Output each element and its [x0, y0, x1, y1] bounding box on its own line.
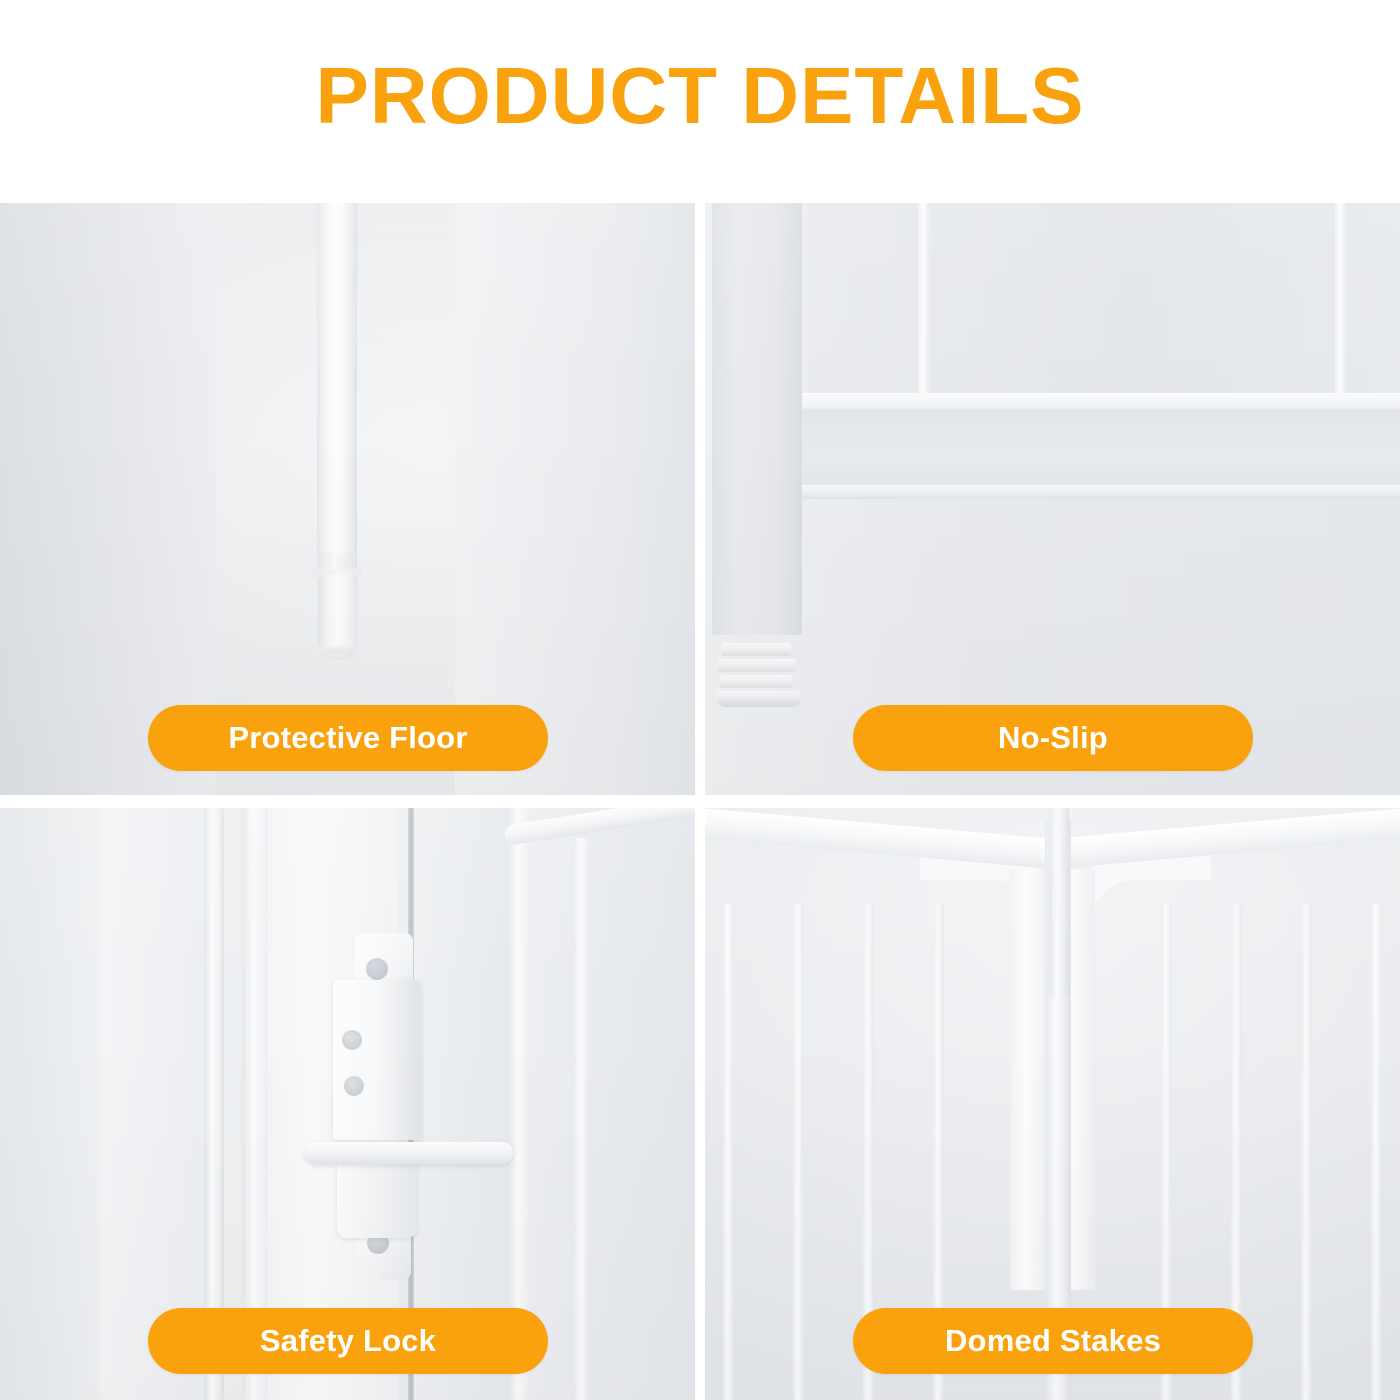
badge-domed-stakes[interactable]: Domed Stakes — [853, 1308, 1253, 1374]
safety-lock-body — [333, 980, 421, 1140]
fence-bar — [723, 904, 734, 1400]
fence-bar — [1371, 904, 1382, 1400]
feature-panel-domed-stakes[interactable]: Domed Stakes — [705, 808, 1400, 1400]
badge-safety-lock[interactable]: Safety Lock — [148, 1308, 548, 1374]
pad-rib — [720, 675, 793, 688]
no-slip-foot-pad — [717, 643, 805, 713]
backdrop-column — [0, 808, 100, 1400]
feature-panel-grid: Protective Floor No-Sli — [0, 203, 1400, 1400]
domed-stake-rod — [1049, 808, 1069, 998]
fence-top-rail — [1040, 808, 1400, 870]
lock-collar — [337, 1160, 417, 1238]
gate-vertical-bar — [1335, 203, 1347, 395]
pad-rib — [721, 643, 791, 656]
lock-release-bar — [305, 1142, 513, 1164]
header-band: PRODUCT DETAILS — [0, 0, 1400, 203]
gate-leg — [317, 203, 357, 571]
feature-panel-safety-lock[interactable]: Safety Lock — [0, 808, 695, 1400]
feature-panel-protective-floor[interactable]: Protective Floor — [0, 203, 695, 795]
lock-screw-hole — [366, 958, 388, 980]
pad-base — [717, 691, 801, 707]
product-details-infographic: PRODUCT DETAILS Protective Floor — [0, 0, 1400, 1400]
gate-vertical-rod — [575, 838, 589, 1400]
badge-no-slip[interactable]: No-Slip — [853, 705, 1253, 771]
contact-shadow — [314, 641, 364, 663]
pad-rib — [718, 659, 796, 672]
gate-opening-area — [807, 203, 1400, 393]
fence-corner-upright — [1010, 870, 1050, 1290]
fence-bar — [1301, 904, 1312, 1400]
gate-vertical-bar — [918, 203, 930, 395]
fence-top-rail — [705, 808, 1066, 870]
backdrop-right — [530, 808, 695, 1400]
lock-screw-hole — [342, 1030, 362, 1050]
gate-panel-face — [795, 409, 1400, 489]
gate-horizontal-rail-bottom — [795, 485, 1400, 499]
badge-protective-floor[interactable]: Protective Floor — [148, 705, 548, 771]
fence-bar — [793, 904, 804, 1400]
page-title: PRODUCT DETAILS — [0, 52, 1400, 140]
gate-corner-post — [712, 203, 802, 635]
lock-screw-hole — [344, 1076, 364, 1096]
feature-panel-no-slip[interactable]: No-Slip — [705, 203, 1400, 795]
